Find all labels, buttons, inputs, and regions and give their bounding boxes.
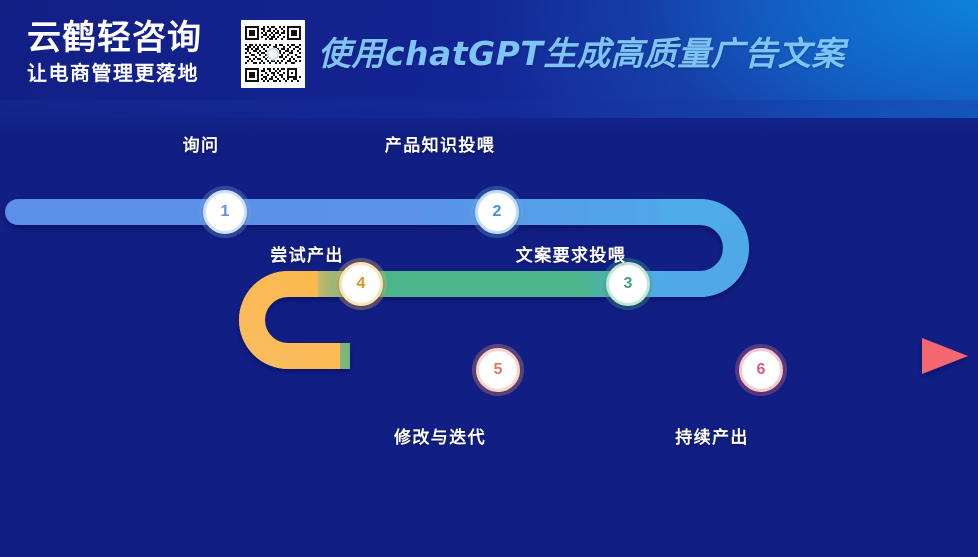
slide-canvas: 云鹤轻咨询 让电商管理更落地 [0, 0, 978, 557]
step-node-5[interactable]: 5 [476, 348, 520, 392]
page-title: 使用chatGPT生成高质量广告文案 [318, 27, 845, 81]
qr-code-glyph [241, 20, 305, 88]
step-node-2[interactable]: 2 [475, 190, 519, 234]
step-node-4[interactable]: 4 [339, 262, 383, 306]
step-node-3[interactable]: 3 [606, 262, 650, 306]
process-flow-diagram [0, 118, 978, 448]
step-label-6: 持续产出 [675, 423, 749, 448]
step-label-5: 修改与迭代 [394, 423, 486, 448]
step-label-1: 询问 [183, 131, 220, 156]
step-number-3: 3 [624, 275, 633, 293]
brand-logo-main-text: 云鹤轻咨询 [27, 18, 239, 58]
step-label-2: 产品知识投喂 [385, 131, 495, 156]
step-number-4: 4 [357, 275, 366, 293]
step-node-6[interactable]: 6 [739, 348, 783, 392]
brand-logo: 云鹤轻咨询 让电商管理更落地 [27, 18, 239, 90]
step-label-3: 文案要求投喂 [516, 241, 626, 266]
step-number-6: 6 [757, 361, 766, 379]
flow-end-arrow-icon [922, 338, 968, 374]
qr-code-icon[interactable] [241, 20, 305, 88]
step-number-1: 1 [221, 203, 230, 221]
step-node-1[interactable]: 1 [203, 190, 247, 234]
step-number-5: 5 [494, 361, 503, 379]
step-number-2: 2 [493, 203, 502, 221]
step-label-4: 尝试产出 [270, 241, 344, 266]
brand-logo-sub-text: 让电商管理更落地 [27, 60, 239, 86]
